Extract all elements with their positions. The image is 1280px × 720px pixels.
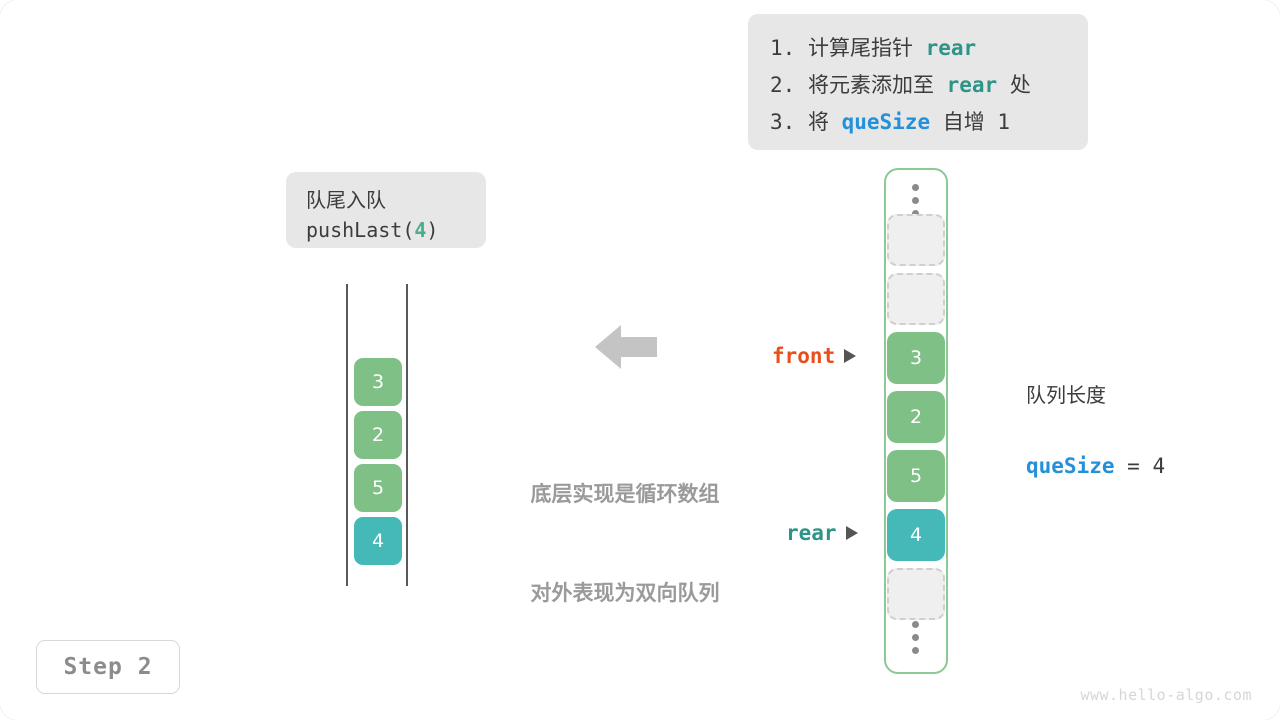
step-2-number: 2. (770, 73, 795, 97)
implementation-note: 底层实现是循环数组 对外表现为双向队列 (500, 412, 750, 676)
deque-cell: 5 (354, 464, 402, 512)
front-pointer-label: front (772, 344, 856, 368)
operation-call-after: ) (426, 218, 438, 242)
array-cell: 3 (887, 332, 945, 384)
step-1-number: 1. (770, 36, 795, 60)
array-cell-empty (887, 214, 945, 266)
deque-logical-view: 3 2 5 4 (340, 284, 416, 588)
step-line-1: 1. 计算尾指针 rear (770, 30, 1066, 67)
front-pointer-arrow-icon (844, 349, 856, 363)
array-cell-new: 4 (887, 509, 945, 561)
diagram-canvas: 1. 计算尾指针 rear 2. 将元素添加至 rear 处 3. 将 queS… (0, 0, 1280, 720)
queue-size-var: queSize (1026, 454, 1115, 478)
operation-call-arg: 4 (414, 218, 426, 242)
front-pointer-text: front (772, 344, 835, 368)
array-cell: 5 (887, 450, 945, 502)
step-line-2: 2. 将元素添加至 rear 处 (770, 67, 1066, 104)
step-3-keyword: queSize (842, 110, 931, 134)
step-2-text-after: 处 (997, 73, 1031, 97)
step-3-number: 3. (770, 110, 795, 134)
queue-size-info: 队列长度 queSize = 4 (1026, 342, 1165, 522)
deque-cell: 2 (354, 411, 402, 459)
steps-panel: 1. 计算尾指针 rear 2. 将元素添加至 rear 处 3. 将 queS… (748, 14, 1088, 150)
step-line-3: 3. 将 queSize 自增 1 (770, 104, 1066, 141)
queue-size-value: 4 (1152, 454, 1165, 478)
operation-label: 队尾入队 pushLast(4) (286, 172, 486, 248)
note-line-2: 对外表现为双向队列 (500, 577, 750, 610)
deque-cell-new: 4 (354, 517, 402, 565)
deque-wall-right (406, 284, 408, 586)
rear-pointer-text: rear (786, 521, 837, 545)
array-cell-list: 3 2 5 4 (887, 214, 945, 627)
queue-size-title: 队列长度 (1026, 380, 1165, 410)
watermark: www.hello-algo.com (1080, 686, 1252, 704)
queue-size-expression: queSize = 4 (1026, 448, 1165, 484)
step-2-keyword: rear (947, 73, 998, 97)
queue-size-equals: = (1115, 454, 1153, 478)
rear-pointer-label: rear (786, 521, 858, 545)
operation-call: pushLast(4) (306, 215, 486, 245)
array-cell: 2 (887, 391, 945, 443)
step-badge: Step 2 (36, 640, 180, 694)
step-3-text-after: 自增 1 (930, 110, 1010, 134)
deque-cell-list: 3 2 5 4 (354, 358, 402, 570)
deque-wall-left (346, 284, 348, 586)
left-arrow-icon (595, 322, 657, 372)
circular-array-container: 3 2 5 4 (884, 168, 948, 674)
note-line-1: 底层实现是循环数组 (500, 478, 750, 511)
operation-title: 队尾入队 (306, 185, 486, 215)
vertical-dots-icon-bottom (912, 621, 920, 660)
step-3-text-before: 将 (795, 110, 841, 134)
array-cell-empty (887, 568, 945, 620)
step-1-keyword: rear (926, 36, 977, 60)
rear-pointer-arrow-icon (846, 526, 858, 540)
operation-call-before: pushLast( (306, 218, 414, 242)
step-2-text-before: 将元素添加至 (795, 73, 946, 97)
step-1-text-before: 计算尾指针 (795, 36, 925, 60)
deque-cell: 3 (354, 358, 402, 406)
array-cell-empty (887, 273, 945, 325)
